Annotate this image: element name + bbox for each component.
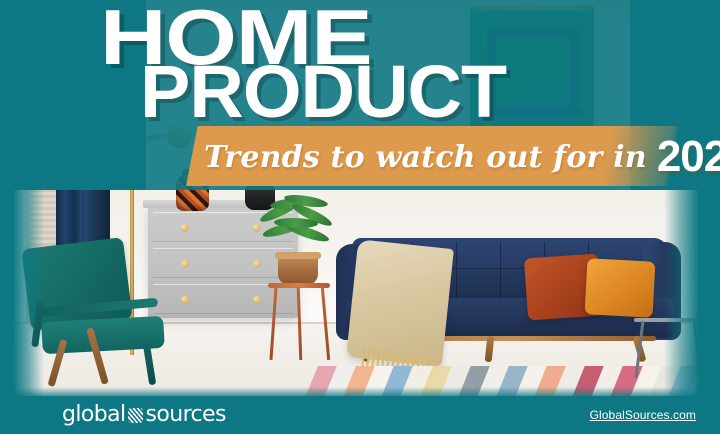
sofa-leg (485, 336, 495, 363)
potted-fern-plant (256, 196, 334, 256)
logo-word-global: global (62, 404, 126, 426)
side-table-leg (635, 321, 645, 378)
subtitle-text-group: Trends to watch out for in 2021 (204, 131, 674, 183)
global-sources-url-link[interactable]: GlobalSources.com (590, 408, 696, 422)
orange-plant-stand (268, 283, 330, 359)
teal-right-gutter (664, 0, 720, 398)
global-sources-logo[interactable]: global sources (62, 404, 226, 426)
drawer-knob-icon (253, 260, 261, 268)
drawer-knob-icon (253, 296, 261, 304)
subtitle-script-text: Trends to watch out for in (204, 140, 647, 175)
plant-stand-leg (297, 287, 303, 360)
terracotta-plant-pot (278, 252, 318, 285)
plant-stand-leg (321, 287, 330, 360)
logo-word-sources: sources (146, 404, 226, 426)
orange-throw-pillow (585, 258, 656, 317)
striped-diamond-icon (128, 408, 143, 423)
teal-left-gutter (0, 150, 44, 398)
footer-bar: global sources GlobalSources.com (0, 396, 720, 434)
drawer-knob-icon (181, 224, 189, 232)
plant-stand-leg (269, 287, 277, 360)
beige-knit-throw (346, 239, 454, 366)
footer-fade (0, 387, 720, 397)
subtitle-year: 2021 (657, 132, 720, 182)
home-product-trends-banner: HOME PRODUCT Trends to watch out for in … (0, 0, 720, 434)
